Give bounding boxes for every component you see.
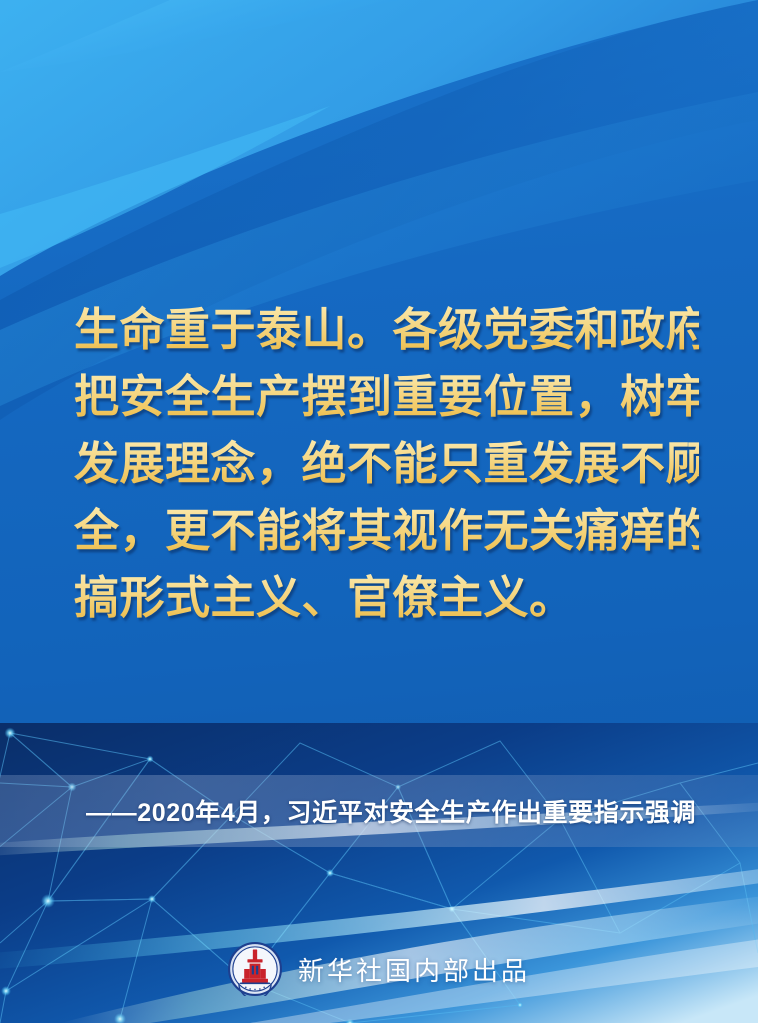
quote-block: 生命重于泰山。各级党委和政府务必 把安全生产摆到重要位置，树牢安全 发展理念，绝… — [74, 296, 699, 631]
quote-line: 全，更不能将其视作无关痛痒的事, — [74, 497, 699, 564]
footer-text: 新华社国内部出品 — [298, 951, 530, 988]
poster-canvas: 生命重于泰山。各级党委和政府务必 把安全生产摆到重要位置，树牢安全 发展理念，绝… — [0, 0, 758, 1023]
quote-line: 搞形式主义、官僚主义。 — [74, 564, 699, 631]
xinhua-agency-emblem-icon — [228, 942, 282, 996]
quote-line: 把安全生产摆到重要位置，树牢安全 — [74, 363, 699, 430]
quote-line: 发展理念，绝不能只重发展不顾安 — [74, 430, 699, 497]
footer-credit: 新华社国内部出品 — [0, 938, 758, 1000]
quote-line: 生命重于泰山。各级党委和政府务必 — [74, 296, 699, 363]
attribution-text: ——2020年4月，习近平对安全生产作出重要指示强调 — [86, 793, 696, 829]
